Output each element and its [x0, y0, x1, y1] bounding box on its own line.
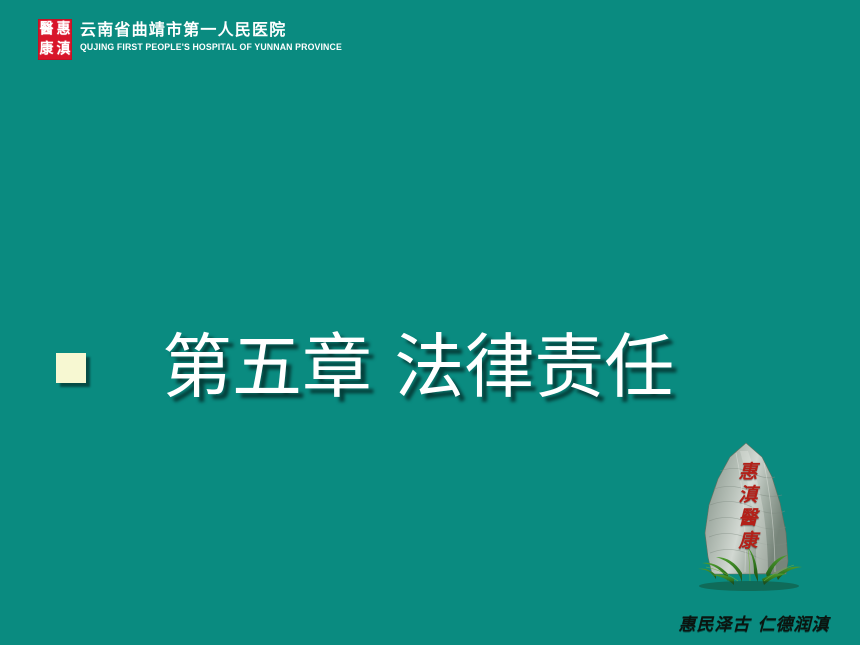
- monument-illustration: [676, 441, 824, 594]
- seal-character-1: 醫: [40, 22, 54, 37]
- title-bullet-square: [56, 353, 86, 383]
- seal-character-2: 惠: [57, 22, 71, 37]
- seal-character-4: 滇: [57, 42, 71, 57]
- presentation-slide: 醫 惠 康 滇 云南省曲靖市第一人民医院 QUJING FIRST PEOPLE…: [0, 0, 860, 645]
- hospital-name-english: QUJING FIRST PEOPLE'S HOSPITAL OF YUNNAN…: [80, 41, 342, 53]
- hospital-seal-logo: 醫 惠 康 滇: [38, 19, 72, 60]
- page-title: 第五章 法律责任: [162, 330, 674, 406]
- hospital-name-chinese: 云南省曲靖市第一人民医院: [80, 20, 350, 40]
- seal-character-3: 康: [40, 42, 54, 57]
- stone-monument-graphic: 惠 滇 醫 康 惠民泽古 仁德润滇: [668, 441, 840, 637]
- hospital-brand: 醫 惠 康 滇 云南省曲靖市第一人民医院 QUJING FIRST PEOPLE…: [38, 19, 350, 60]
- monument-image: 惠 滇 醫 康: [676, 441, 824, 594]
- monument-motto-calligraphy: 惠民泽古 仁德润滇: [668, 610, 840, 635]
- slide-title-row: 第五章 法律责任: [0, 330, 730, 406]
- hospital-name-block: 云南省曲靖市第一人民医院 QUJING FIRST PEOPLE'S HOSPI…: [80, 19, 350, 53]
